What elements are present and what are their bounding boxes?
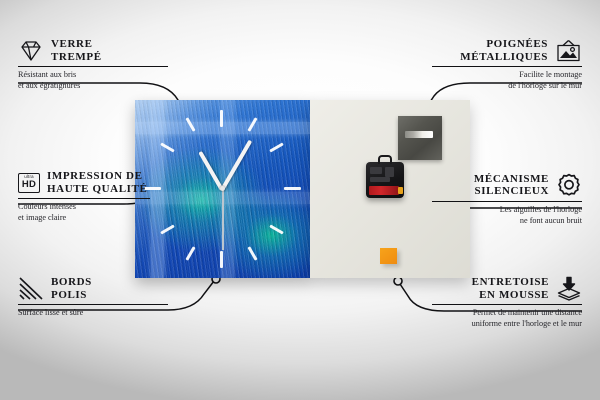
callout-header: VERRE TREMPÉ — [18, 38, 168, 63]
hanger-keyhole-slot — [405, 131, 433, 138]
callout-title: ENTRETOISE EN MOUSSE — [472, 276, 549, 301]
hd-label: HD — [22, 180, 36, 190]
clock-battery — [369, 186, 399, 195]
battery-positive-tip — [398, 187, 403, 194]
callout-rule — [18, 304, 168, 305]
picture-frame-hanging-icon — [555, 39, 582, 63]
callout-rule — [432, 66, 582, 67]
ultra-hd-badge-icon: ultra HD — [18, 173, 40, 193]
clock-center-pin — [220, 186, 225, 191]
gear-icon — [556, 172, 582, 198]
diamond-icon — [18, 40, 44, 62]
movement-detail — [370, 167, 382, 174]
movement-detail — [370, 177, 390, 182]
callout-bords-polis[interactable]: BORDS POLIS Surface lisse et sûre — [18, 276, 168, 319]
callout-title: VERRE TREMPÉ — [51, 38, 102, 63]
callout-description: Facilite le montage de l'horloge sur le … — [432, 70, 582, 91]
infographic-canvas: VERRE TREMPÉ Résistant aux bris et aux é… — [0, 0, 600, 400]
callout-description: Permet de maintenir une distance uniform… — [432, 308, 582, 329]
callout-rule — [432, 304, 582, 305]
callout-verre-trempe[interactable]: VERRE TREMPÉ Résistant aux bris et aux é… — [18, 38, 168, 91]
callout-title: MÉCANISME SILENCIEUX — [474, 173, 549, 198]
callout-description: Surface lisse et sûre — [18, 308, 168, 318]
callout-header: ENTRETOISE EN MOUSSE — [432, 276, 582, 301]
hour-marker — [284, 187, 301, 190]
arrow-down-pad-icon — [556, 276, 582, 301]
hour-marker — [220, 251, 223, 268]
callout-rule — [18, 198, 150, 199]
callout-rule — [432, 201, 582, 202]
leader-dot-entretoise — [394, 277, 402, 285]
clock-second-hand — [222, 188, 224, 250]
callout-title: IMPRESSION DE HAUTE QUALITÉ — [47, 170, 147, 195]
movement-hanging-loop — [378, 155, 392, 164]
metal-hanger-plate — [398, 116, 442, 160]
foam-spacer-pad — [380, 248, 397, 264]
callout-header: ultra HD IMPRESSION DE HAUTE QUALITÉ — [18, 170, 168, 195]
clock-movement-box — [366, 162, 404, 198]
diagonal-lines-icon — [18, 277, 44, 301]
callout-description: Résistant aux bris et aux égratignures — [18, 70, 168, 91]
callout-title: POIGNÉES MÉTALLIQUES — [460, 38, 548, 63]
callout-rule — [18, 66, 168, 67]
callout-description: Les aiguilles de l'horloge ne font aucun… — [432, 205, 582, 226]
callout-mecanisme-silencieux[interactable]: MÉCANISME SILENCIEUX Les aiguilles de l'… — [432, 172, 582, 226]
callout-header: BORDS POLIS — [18, 276, 168, 301]
callout-title: BORDS POLIS — [51, 276, 92, 301]
callout-header: POIGNÉES MÉTALLIQUES — [432, 38, 582, 63]
callout-entretoise-en-mousse[interactable]: ENTRETOISE EN MOUSSE Permet de maintenir… — [432, 276, 582, 329]
hour-marker — [220, 110, 223, 127]
callout-poignees-metalliques[interactable]: POIGNÉES MÉTALLIQUES Facilite le montage… — [432, 38, 582, 91]
callout-header: MÉCANISME SILENCIEUX — [432, 172, 582, 198]
movement-detail — [385, 167, 394, 177]
callout-impression-haute-qualite[interactable]: ultra HD IMPRESSION DE HAUTE QUALITÉ Cou… — [18, 170, 168, 223]
callout-description: Couleurs intenses et image claire — [18, 202, 168, 223]
